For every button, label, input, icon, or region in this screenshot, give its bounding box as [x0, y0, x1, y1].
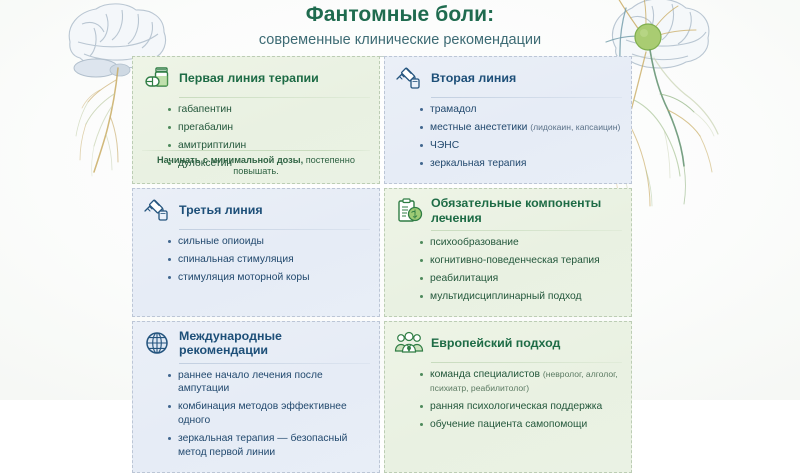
card-header-divider [179, 229, 370, 230]
card-header-divider [431, 362, 622, 363]
list-item: габапентин [168, 103, 370, 121]
card-third-line[interactable]: Третья линия сильные опиоиды спинальная … [132, 188, 380, 317]
card-header-divider [431, 230, 622, 231]
card-european-approach[interactable]: Европейский подход команда специалистов … [384, 321, 632, 473]
cards-grid: Первая линия терапии габапентин прегабал… [132, 56, 632, 473]
list-item: ранняя психологическая поддержка [420, 400, 622, 418]
list-item: мультидисциплинарный подход [420, 290, 622, 308]
card-title: Обязательные компоненты лечения [431, 196, 622, 225]
infographic-page: Фантомные боли: современные клинические … [0, 0, 800, 400]
list-item: спинальная стимуляция [168, 253, 370, 271]
list-item: зеркальная терапия — безопасный метод пе… [168, 432, 370, 464]
card-mandatory-components[interactable]: Обязательные компоненты лечения психообр… [384, 188, 632, 317]
list-item: ЧЭНС [420, 139, 622, 157]
people-team-icon [394, 329, 424, 357]
card-second-line[interactable]: Вторая линия трамадол местные анестетики… [384, 56, 632, 184]
card-header: Третья линия [142, 196, 370, 228]
card-item-list: раннее начало лечения после ампутации ко… [142, 369, 370, 464]
list-item: раннее начало лечения после ампутации [168, 369, 370, 401]
card-title: Третья линия [179, 203, 263, 217]
list-item: обучение пациента самопомощи [420, 418, 622, 436]
card-header: Международные рекомендации [142, 329, 370, 362]
list-item: когнитивно-поведенческая терапия [420, 254, 622, 272]
pill-bottle-icon [142, 64, 172, 92]
globe-icon [142, 329, 172, 357]
list-item: трамадол [420, 103, 622, 121]
page-title: Фантомные боли: [0, 2, 800, 28]
card-title: Международные рекомендации [179, 329, 370, 358]
list-item: местные анестетики (лидокаин, капсаицин) [420, 121, 622, 139]
card-header: Первая линия терапии [142, 64, 370, 96]
card-footnote: Начинать с минимальной дозы, постепенно … [142, 150, 370, 177]
list-item: зеркальная терапия [420, 157, 622, 175]
card-item-list: психообразование когнитивно-поведенческа… [394, 236, 622, 308]
list-item-note: (лидокаин, капсаицин) [530, 122, 620, 132]
list-item: реабилитация [420, 272, 622, 290]
card-header-divider [179, 363, 370, 364]
card-item-list: трамадол местные анестетики (лидокаин, к… [394, 103, 622, 175]
card-title: Первая линия терапии [179, 71, 319, 85]
card-header-divider [431, 97, 622, 98]
syringe-icon [142, 196, 172, 224]
card-item-list: сильные опиоиды спинальная стимуляция ст… [142, 235, 370, 289]
card-first-line-therapy[interactable]: Первая линия терапии габапентин прегабал… [132, 56, 380, 184]
list-item: сильные опиоиды [168, 235, 370, 253]
card-title: Европейский подход [431, 336, 560, 350]
footnote-divider [142, 150, 370, 151]
card-header-divider [179, 97, 370, 98]
card-header: Вторая линия [394, 64, 622, 96]
syringe-icon [394, 64, 424, 92]
footnote-bold: Начинать с минимальной дозы, [157, 155, 303, 165]
card-international-recommendations[interactable]: Международные рекомендации раннее начало… [132, 321, 380, 473]
list-item: команда специалистов (невролог, алголог,… [420, 368, 622, 400]
list-item: стимуляция моторной коры [168, 271, 370, 289]
card-title: Вторая линия [431, 71, 516, 85]
header: Фантомные боли: современные клинические … [0, 2, 800, 57]
list-item: психообразование [420, 236, 622, 254]
page-subtitle: современные клинические рекомендации [0, 31, 800, 49]
card-header: Обязательные компоненты лечения [394, 196, 622, 229]
card-item-list: команда специалистов (невролог, алголог,… [394, 368, 622, 436]
list-item: прегабалин [168, 121, 370, 139]
card-header: Европейский подход [394, 329, 622, 361]
list-item: комбинация методов эффективнее одного [168, 400, 370, 432]
clipboard-brain-icon [394, 197, 424, 225]
